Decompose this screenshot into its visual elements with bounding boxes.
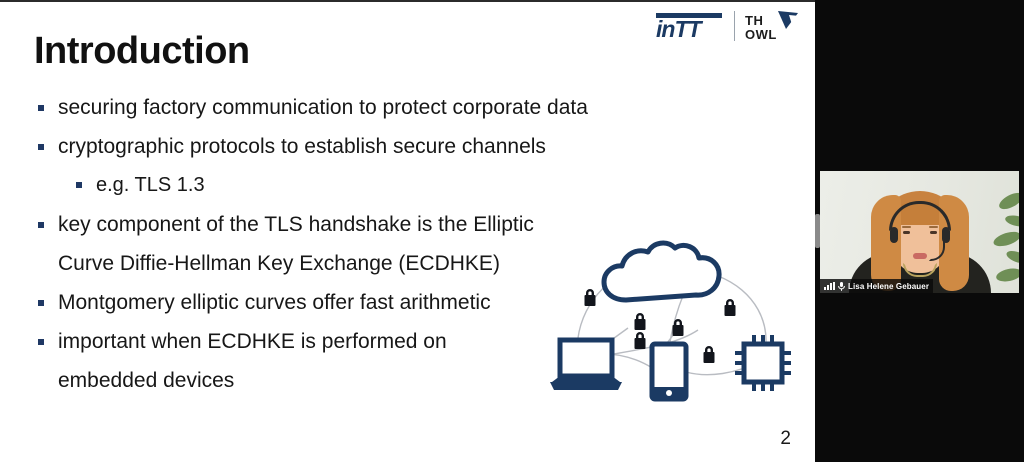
cloud-icon bbox=[604, 243, 719, 300]
bullet-marker-icon bbox=[38, 300, 44, 306]
bullet-item-sub: e.g. TLS 1.3 bbox=[72, 166, 674, 205]
video-panel-scrollbar[interactable] bbox=[815, 214, 820, 248]
slide-title: Introduction bbox=[34, 30, 250, 73]
laptop-icon bbox=[550, 340, 622, 390]
intt-logo: inTT bbox=[652, 7, 724, 45]
mouth bbox=[913, 253, 927, 259]
participant-video-tile[interactable]: Lisa Helene Gebauer bbox=[820, 171, 1019, 293]
bullet-item: securing factory communication to protec… bbox=[34, 88, 674, 127]
logo-divider bbox=[734, 11, 735, 41]
bullet-marker-icon bbox=[38, 222, 44, 228]
logo-bar: inTT TH OWL bbox=[652, 6, 801, 46]
bullet-marker-icon bbox=[76, 182, 82, 188]
participant-person bbox=[845, 187, 995, 293]
microphone-icon bbox=[838, 282, 845, 291]
padlock-icon bbox=[585, 289, 596, 306]
padlock-icon bbox=[635, 313, 646, 330]
bullet-text: cryptographic protocols to establish sec… bbox=[58, 127, 674, 166]
padlock-icon bbox=[635, 332, 646, 349]
bullet-text: e.g. TLS 1.3 bbox=[96, 166, 674, 205]
bullet-marker-icon bbox=[38, 339, 44, 345]
secure-cloud-connectivity-diagram bbox=[548, 232, 798, 402]
th-owl-line-2: OWL bbox=[745, 28, 777, 41]
page-number: 2 bbox=[780, 428, 791, 450]
signal-bars-icon bbox=[824, 282, 835, 290]
smartphone-icon bbox=[652, 344, 686, 399]
bullet-marker-icon bbox=[38, 105, 44, 111]
participant-name: Lisa Helene Gebauer bbox=[848, 282, 929, 291]
eye-right bbox=[930, 231, 937, 234]
participant-name-bar: Lisa Helene Gebauer bbox=[820, 279, 933, 293]
slide-top-rule bbox=[0, 0, 815, 2]
padlock-icon bbox=[704, 346, 715, 363]
th-owl-logo: TH OWL bbox=[745, 7, 801, 45]
presentation-slide: inTT TH OWL Introduction securing factor… bbox=[0, 0, 815, 462]
headset-earcup-left bbox=[890, 227, 898, 243]
participant-video-panel: Lisa Helene Gebauer bbox=[815, 0, 1024, 462]
microchip-icon bbox=[735, 335, 791, 391]
bullet-item: cryptographic protocols to establish sec… bbox=[34, 127, 674, 166]
video-feed bbox=[820, 171, 1019, 293]
bullet-marker-icon bbox=[38, 144, 44, 150]
eye-left bbox=[903, 231, 910, 234]
intt-logo-text: inTT bbox=[656, 16, 701, 42]
th-owl-line-1: TH bbox=[745, 14, 763, 27]
owl-triangle-icon bbox=[777, 10, 799, 30]
bullet-text: securing factory communication to protec… bbox=[58, 88, 674, 127]
padlock-icon bbox=[725, 299, 736, 316]
